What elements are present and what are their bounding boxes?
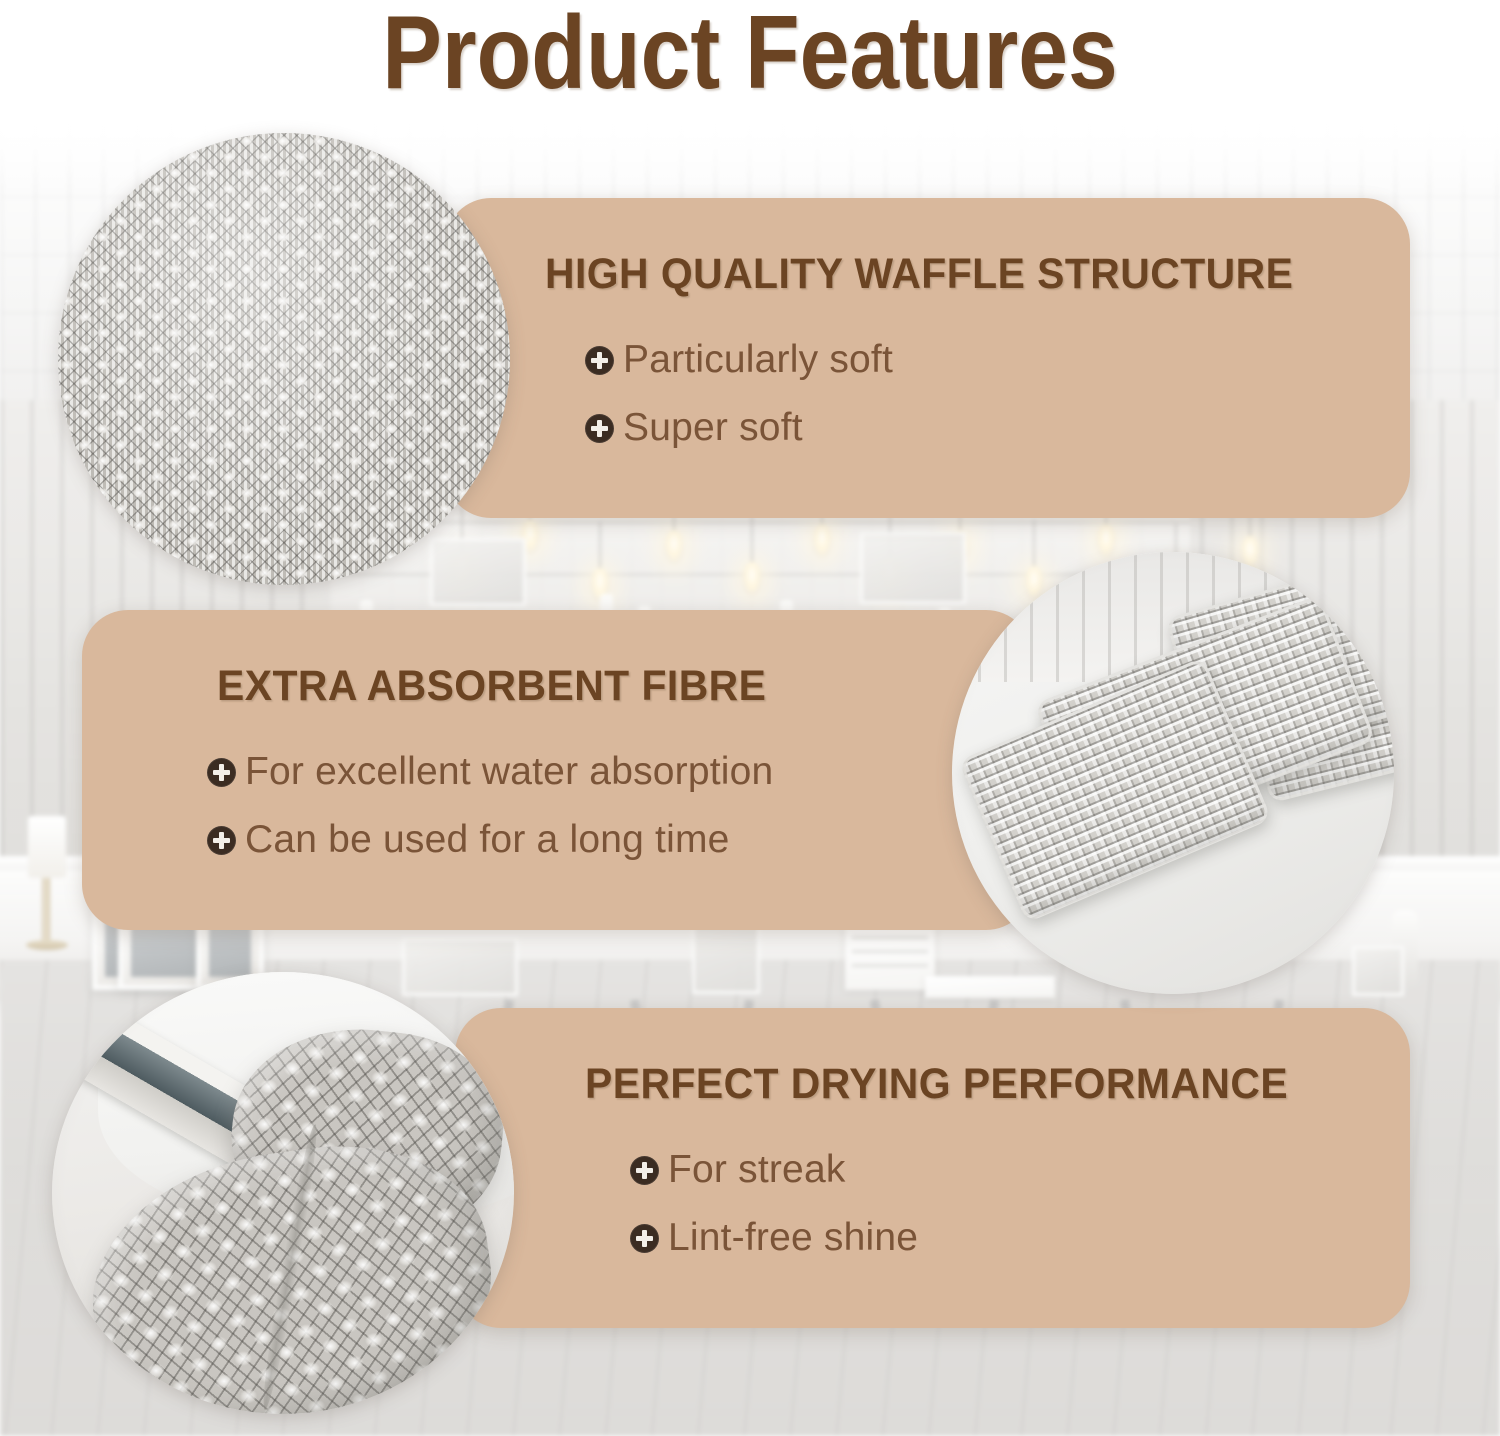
feature-card-1-bullets: Particularly soft Super soft	[585, 338, 893, 450]
pendant-lamp-icon	[664, 530, 684, 564]
feature-card-1: HIGH QUALITY WAFFLE STRUCTURE Particular…	[445, 198, 1410, 518]
feature-card-3-bullets: For streak Lint-free shine	[630, 1148, 918, 1260]
photo-sheen	[58, 133, 510, 585]
plus-circle-icon	[630, 1224, 659, 1253]
feature-photo-folded-cloth	[952, 552, 1394, 994]
counter-document	[845, 926, 935, 990]
list-item: Can be used for a long time	[207, 818, 773, 862]
list-item: Super soft	[585, 406, 893, 450]
document-rule	[852, 936, 928, 939]
feature-card-2: EXTRA ABSORBENT FIBRE For excellent wate…	[82, 610, 1032, 930]
candlestick-base	[26, 940, 68, 950]
pendant-lamp-icon	[742, 562, 762, 596]
bullet-label: For streak	[668, 1148, 846, 1192]
plus-circle-icon	[630, 1156, 659, 1185]
feature-card-1-heading: HIGH QUALITY WAFFLE STRUCTURE	[545, 250, 1293, 299]
feature-card-3-heading: PERFECT DRYING PERFORMANCE	[585, 1060, 1288, 1109]
page-title: Product Features	[105, 0, 1395, 113]
feature-card-2-content: EXTRA ABSORBENT FIBRE For excellent wate…	[82, 610, 1032, 930]
plus-circle-icon	[207, 826, 236, 855]
pendant-lamp-icon	[812, 524, 832, 558]
feature-photo-waffle-structure	[58, 133, 510, 585]
feature-card-2-heading: EXTRA ABSORBENT FIBRE	[217, 662, 766, 711]
bullet-label: Lint-free shine	[668, 1216, 918, 1260]
list-item: Particularly soft	[585, 338, 893, 382]
bullet-label: Particularly soft	[623, 338, 893, 382]
plus-circle-icon	[585, 414, 614, 443]
plus-circle-icon	[207, 758, 236, 787]
feature-card-2-bullets: For excellent water absorption Can be us…	[207, 750, 773, 862]
pillar-candle	[28, 816, 66, 878]
product-features-infographic: PIRATE Product Features HIGH QUALITY WAF…	[0, 0, 1500, 1436]
bullet-label: For excellent water absorption	[245, 750, 773, 794]
feature-card-1-content: HIGH QUALITY WAFFLE STRUCTURE Particular…	[445, 198, 1410, 518]
shelf-picture-frame	[860, 532, 966, 604]
list-item: For excellent water absorption	[207, 750, 773, 794]
list-item: Lint-free shine	[630, 1216, 918, 1260]
plus-circle-icon	[585, 346, 614, 375]
list-item: For streak	[630, 1148, 918, 1192]
document-rule	[852, 964, 928, 967]
document-rule	[852, 950, 928, 953]
bullet-label: Super soft	[623, 406, 803, 450]
feature-card-3-content: PERFECT DRYING PERFORMANCE For streak Li…	[455, 1008, 1410, 1328]
candlestick-stem	[42, 868, 50, 946]
feature-photo-bunched-towel	[52, 972, 514, 1414]
feature-card-3: PERFECT DRYING PERFORMANCE For streak Li…	[455, 1008, 1410, 1328]
bullet-label: Can be used for a long time	[245, 818, 730, 862]
